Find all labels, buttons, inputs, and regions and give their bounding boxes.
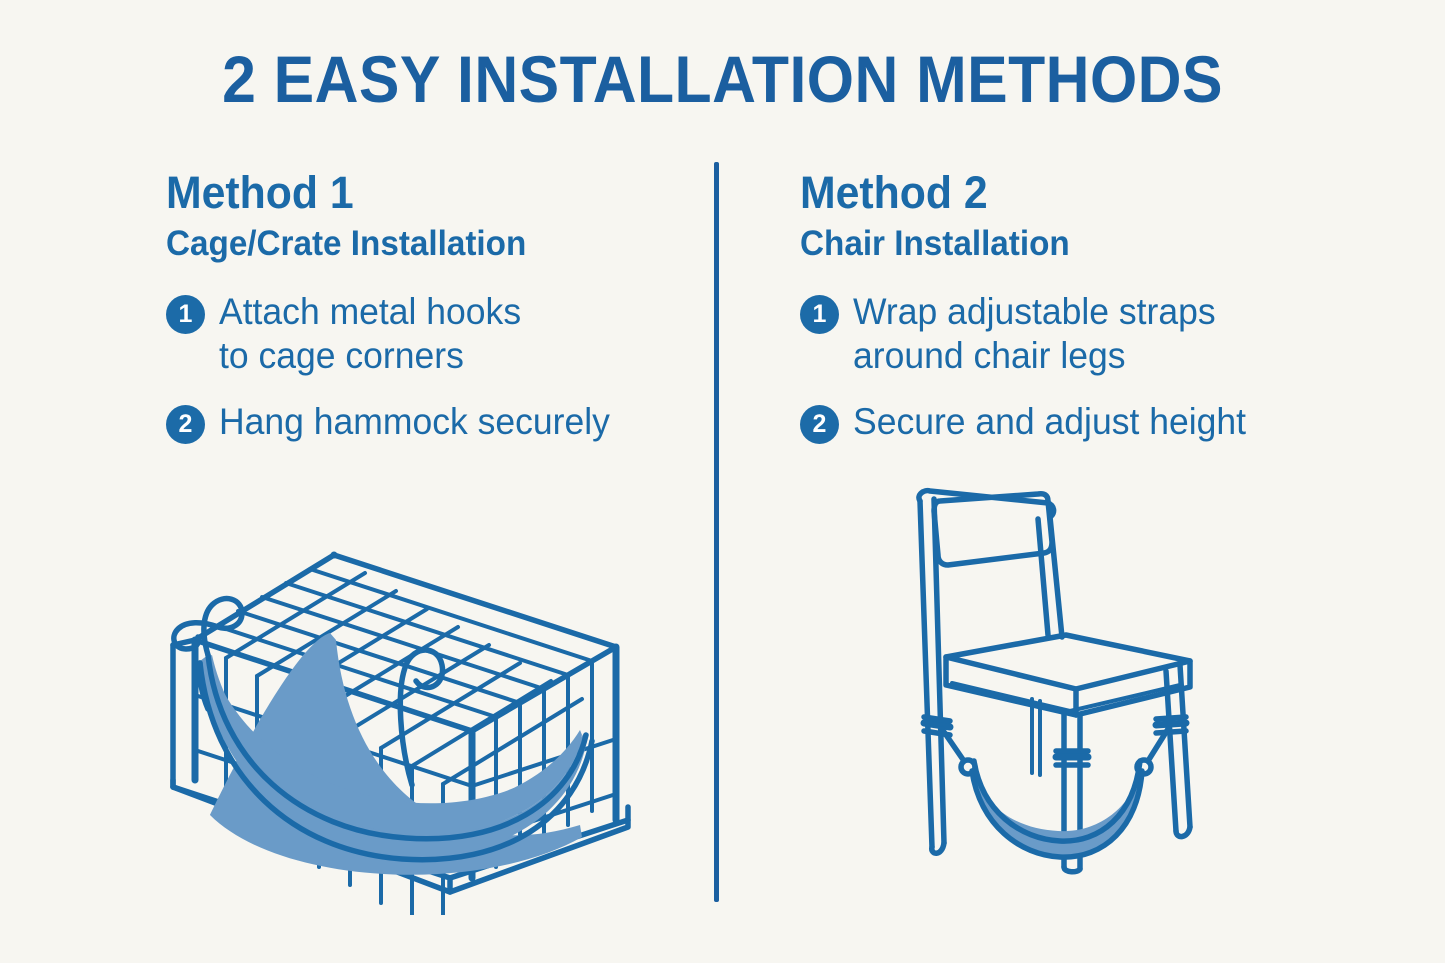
step-number-badge: 2 (166, 405, 205, 444)
method-1-heading: Method 1 (166, 168, 670, 218)
list-item: 1 Wrap adjustable straps around chair le… (800, 290, 1360, 378)
method-2-steps: 1 Wrap adjustable straps around chair le… (800, 290, 1360, 444)
page-title: 2 EASY INSTALLATION METHODS (58, 44, 1387, 114)
step-text: Secure and adjust height (853, 400, 1246, 444)
chair-icon (880, 475, 1220, 875)
step-text: Attach metal hooks to cage corners (219, 290, 521, 378)
cage-crate-icon (150, 495, 650, 915)
step-text: Hang hammock securely (219, 400, 610, 444)
method-1-steps: 1 Attach metal hooks to cage corners 2 H… (166, 290, 696, 444)
method-2-subheading: Chair Installation (800, 224, 1332, 264)
step-number-badge: 2 (800, 405, 839, 444)
chair-back-splat (934, 494, 1052, 565)
method-1-subheading: Cage/Crate Installation (166, 224, 670, 264)
chair-illustration (880, 475, 1220, 880)
list-item: 2 Secure and adjust height (800, 400, 1360, 444)
method-2-column: Method 2 Chair Installation 1 Wrap adjus… (800, 168, 1360, 466)
hammock-hook-left (174, 599, 242, 655)
strap-cord-left (942, 729, 975, 774)
step-number-badge: 1 (166, 295, 205, 334)
strap-band-right (1156, 717, 1186, 733)
infographic-canvas: 2 EASY INSTALLATION METHODS Method 1 Cag… (0, 0, 1445, 963)
step-number-badge: 1 (800, 295, 839, 334)
chair-hammock-outline (972, 761, 1142, 857)
cage-crate-illustration (150, 495, 650, 920)
list-item: 1 Attach metal hooks to cage corners (166, 290, 696, 378)
step-text: Wrap adjustable straps around chair legs (853, 290, 1216, 378)
method-1-column: Method 1 Cage/Crate Installation 1 Attac… (166, 168, 696, 466)
list-item: 2 Hang hammock securely (166, 400, 696, 444)
chair-seat (946, 635, 1190, 715)
strap-band-front (1056, 751, 1088, 765)
method-2-heading: Method 2 (800, 168, 1332, 218)
column-divider (714, 162, 719, 902)
